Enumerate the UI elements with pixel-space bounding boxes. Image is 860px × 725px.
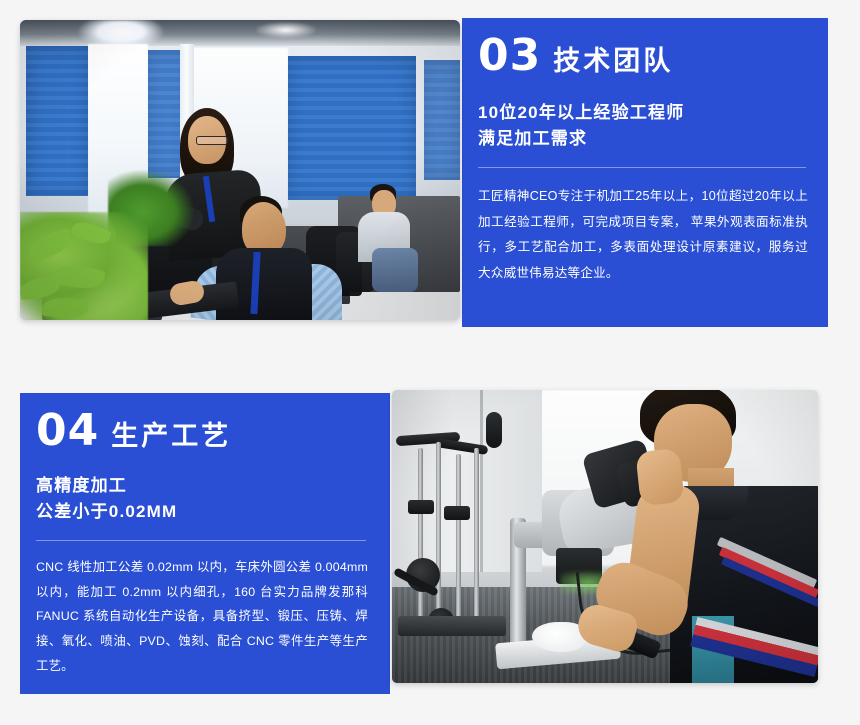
photo-vignette <box>392 390 818 683</box>
section-03-body: 工匠精神CEO专注于机加工25年以上，10位超过20年以上加工经验工程师，可完成… <box>478 184 808 287</box>
section-04-text-block: 04 生产工艺 高精度加工 公差小于0.02MM CNC 线性加工公差 0.02… <box>36 409 378 679</box>
section-03-heading: 03 技术团队 <box>478 34 818 78</box>
section-04-number: 04 <box>36 409 99 453</box>
section-03-text-block: 03 技术团队 10位20年以上经验工程师 满足加工需求 工匠精神CEO专注于机… <box>478 34 818 287</box>
section-03-divider <box>478 167 806 168</box>
photo-vignette <box>20 20 460 320</box>
section-03-title: 技术团队 <box>553 48 673 75</box>
section-03-subtitle-line-1: 10位20年以上经验工程师 <box>478 100 818 126</box>
section-03-technical-team: 03 技术团队 10位20年以上经验工程师 满足加工需求 工匠精神CEO专注于机… <box>0 0 860 360</box>
section-03-subtitle-line-2: 满足加工需求 <box>478 126 818 152</box>
marketing-page: 03 技术团队 10位20年以上经验工程师 满足加工需求 工匠精神CEO专注于机… <box>0 0 860 725</box>
section-04-heading: 04 生产工艺 <box>36 409 378 453</box>
section-04-divider <box>36 540 366 541</box>
section-04-subtitle-line-1: 高精度加工 <box>36 473 378 499</box>
section-04-body: CNC 线性加工公差 0.02mm 以内，车床外圆公差 0.004mm 以内，能… <box>36 555 368 679</box>
office-team-photo <box>20 20 460 320</box>
section-04-production-process: 04 生产工艺 高精度加工 公差小于0.02MM CNC 线性加工公差 0.02… <box>0 365 860 725</box>
section-04-title: 生产工艺 <box>111 423 231 450</box>
microscope-inspection-photo <box>392 390 818 683</box>
section-04-subtitle-line-2: 公差小于0.02MM <box>36 499 378 525</box>
section-03-number: 03 <box>478 34 541 78</box>
